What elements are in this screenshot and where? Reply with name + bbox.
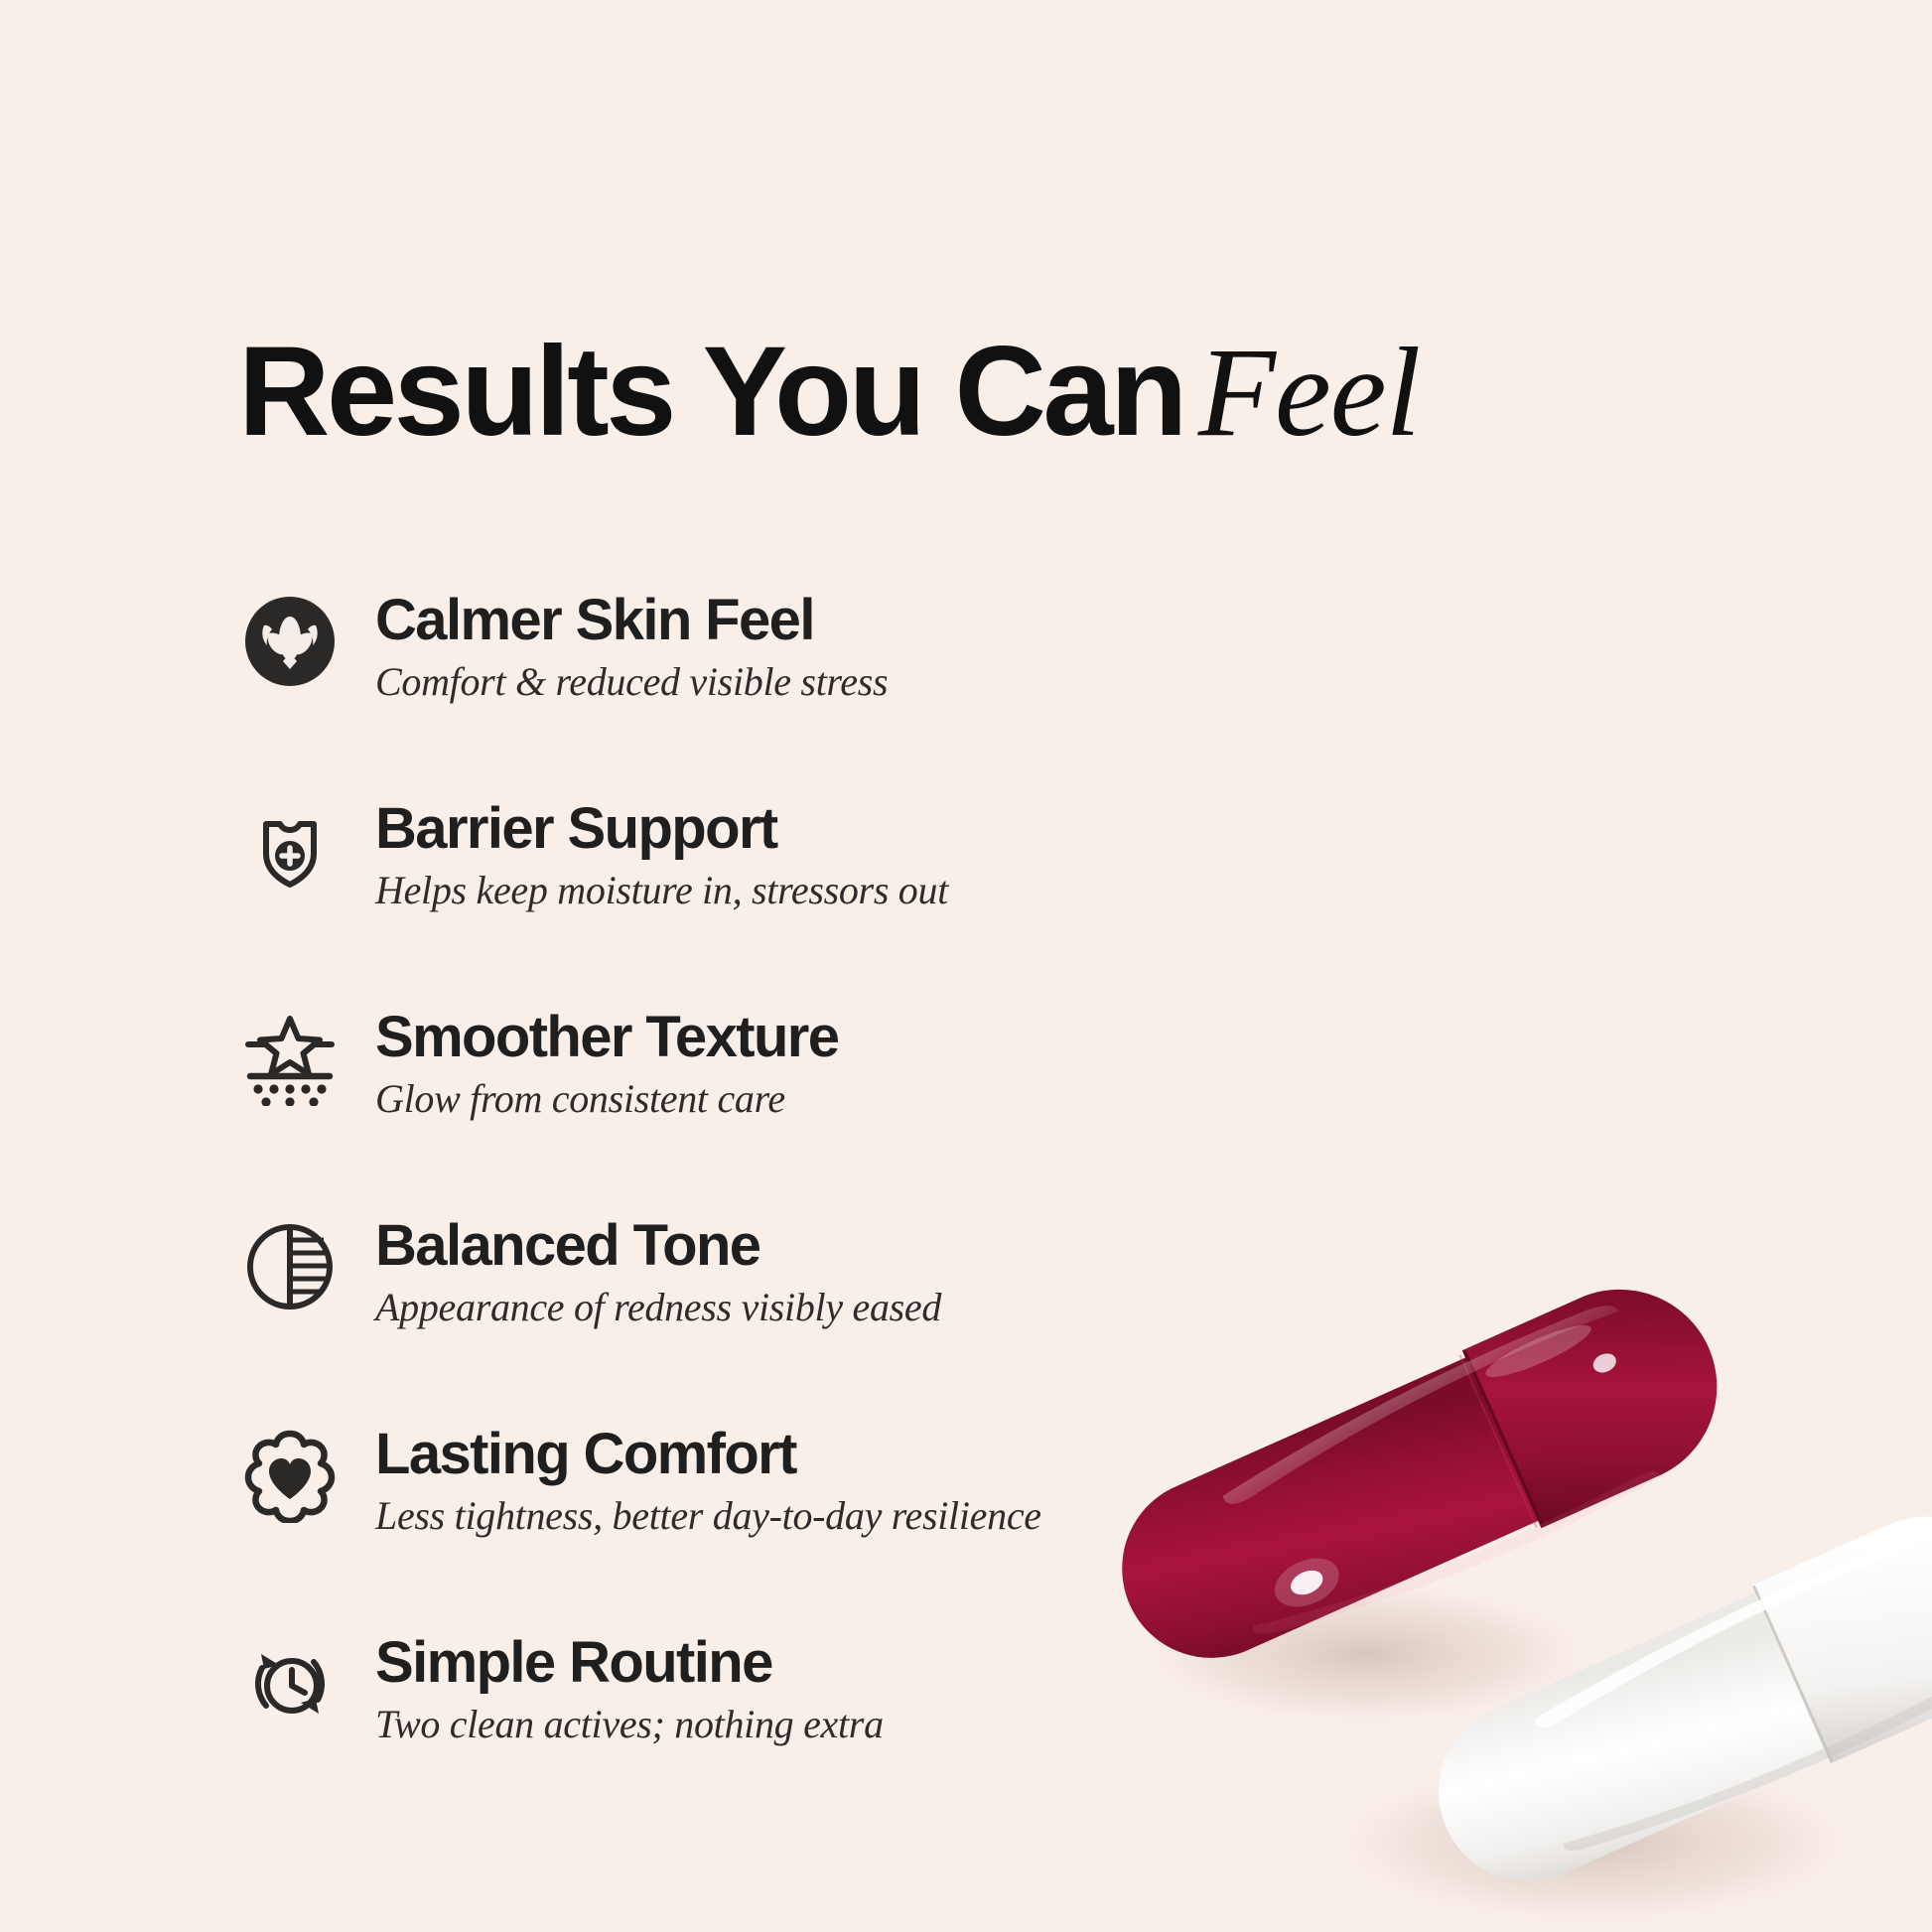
benefit-text: Balanced Tone Appearance of redness visi… [342,1213,941,1331]
headline-italic: Feel [1184,322,1420,463]
benefit-subtitle: Two clean actives; nothing extra [375,1701,884,1749]
benefit-subtitle: Appearance of redness visibly eased [375,1284,941,1332]
lotus-icon [238,590,342,693]
benefit-title: Barrier Support [375,798,948,861]
benefit-title: Simple Routine [375,1632,884,1695]
benefits-list: Calmer Skin Feel Comfort & reduced visib… [238,588,1370,1839]
benefit-subtitle: Less tightness, better day-to-day resili… [375,1492,1041,1541]
benefit-text: Lasting Comfort Less tightness, better d… [342,1422,1041,1540]
page-title: Results You CanFeel [238,328,1420,458]
list-item: Simple Routine Two clean actives; nothin… [238,1630,1370,1839]
benefit-text: Barrier Support Helps keep moisture in, … [342,796,948,914]
benefit-subtitle: Comfort & reduced visible stress [375,658,888,707]
benefit-title: Smoother Texture [375,1007,838,1069]
shield-plus-icon [238,798,342,901]
scalloped-heart-icon [238,1424,342,1527]
list-item: Balanced Tone Appearance of redness visi… [238,1213,1370,1422]
benefit-title: Balanced Tone [375,1215,941,1278]
list-item: Calmer Skin Feel Comfort & reduced visib… [238,588,1370,796]
benefit-text: Smoother Texture Glow from consistent ca… [342,1005,838,1123]
list-item: Lasting Comfort Less tightness, better d… [238,1422,1370,1630]
benefit-subtitle: Helps keep moisture in, stressors out [375,867,948,915]
half-shaded-circle-icon [238,1215,342,1318]
benefit-subtitle: Glow from consistent care [375,1075,838,1124]
headline-plain: Results You Can [238,321,1184,463]
benefit-text: Simple Routine Two clean actives; nothin… [342,1630,884,1748]
star-texture-icon [238,1007,342,1110]
list-item: Smoother Texture Glow from consistent ca… [238,1005,1370,1213]
clock-cycle-icon [238,1632,342,1735]
benefit-text: Calmer Skin Feel Comfort & reduced visib… [342,588,888,706]
benefit-title: Calmer Skin Feel [375,590,888,652]
list-item: Barrier Support Helps keep moisture in, … [238,796,1370,1005]
benefit-title: Lasting Comfort [375,1424,1041,1486]
poster-canvas: Results You CanFeel C [0,0,1932,1932]
